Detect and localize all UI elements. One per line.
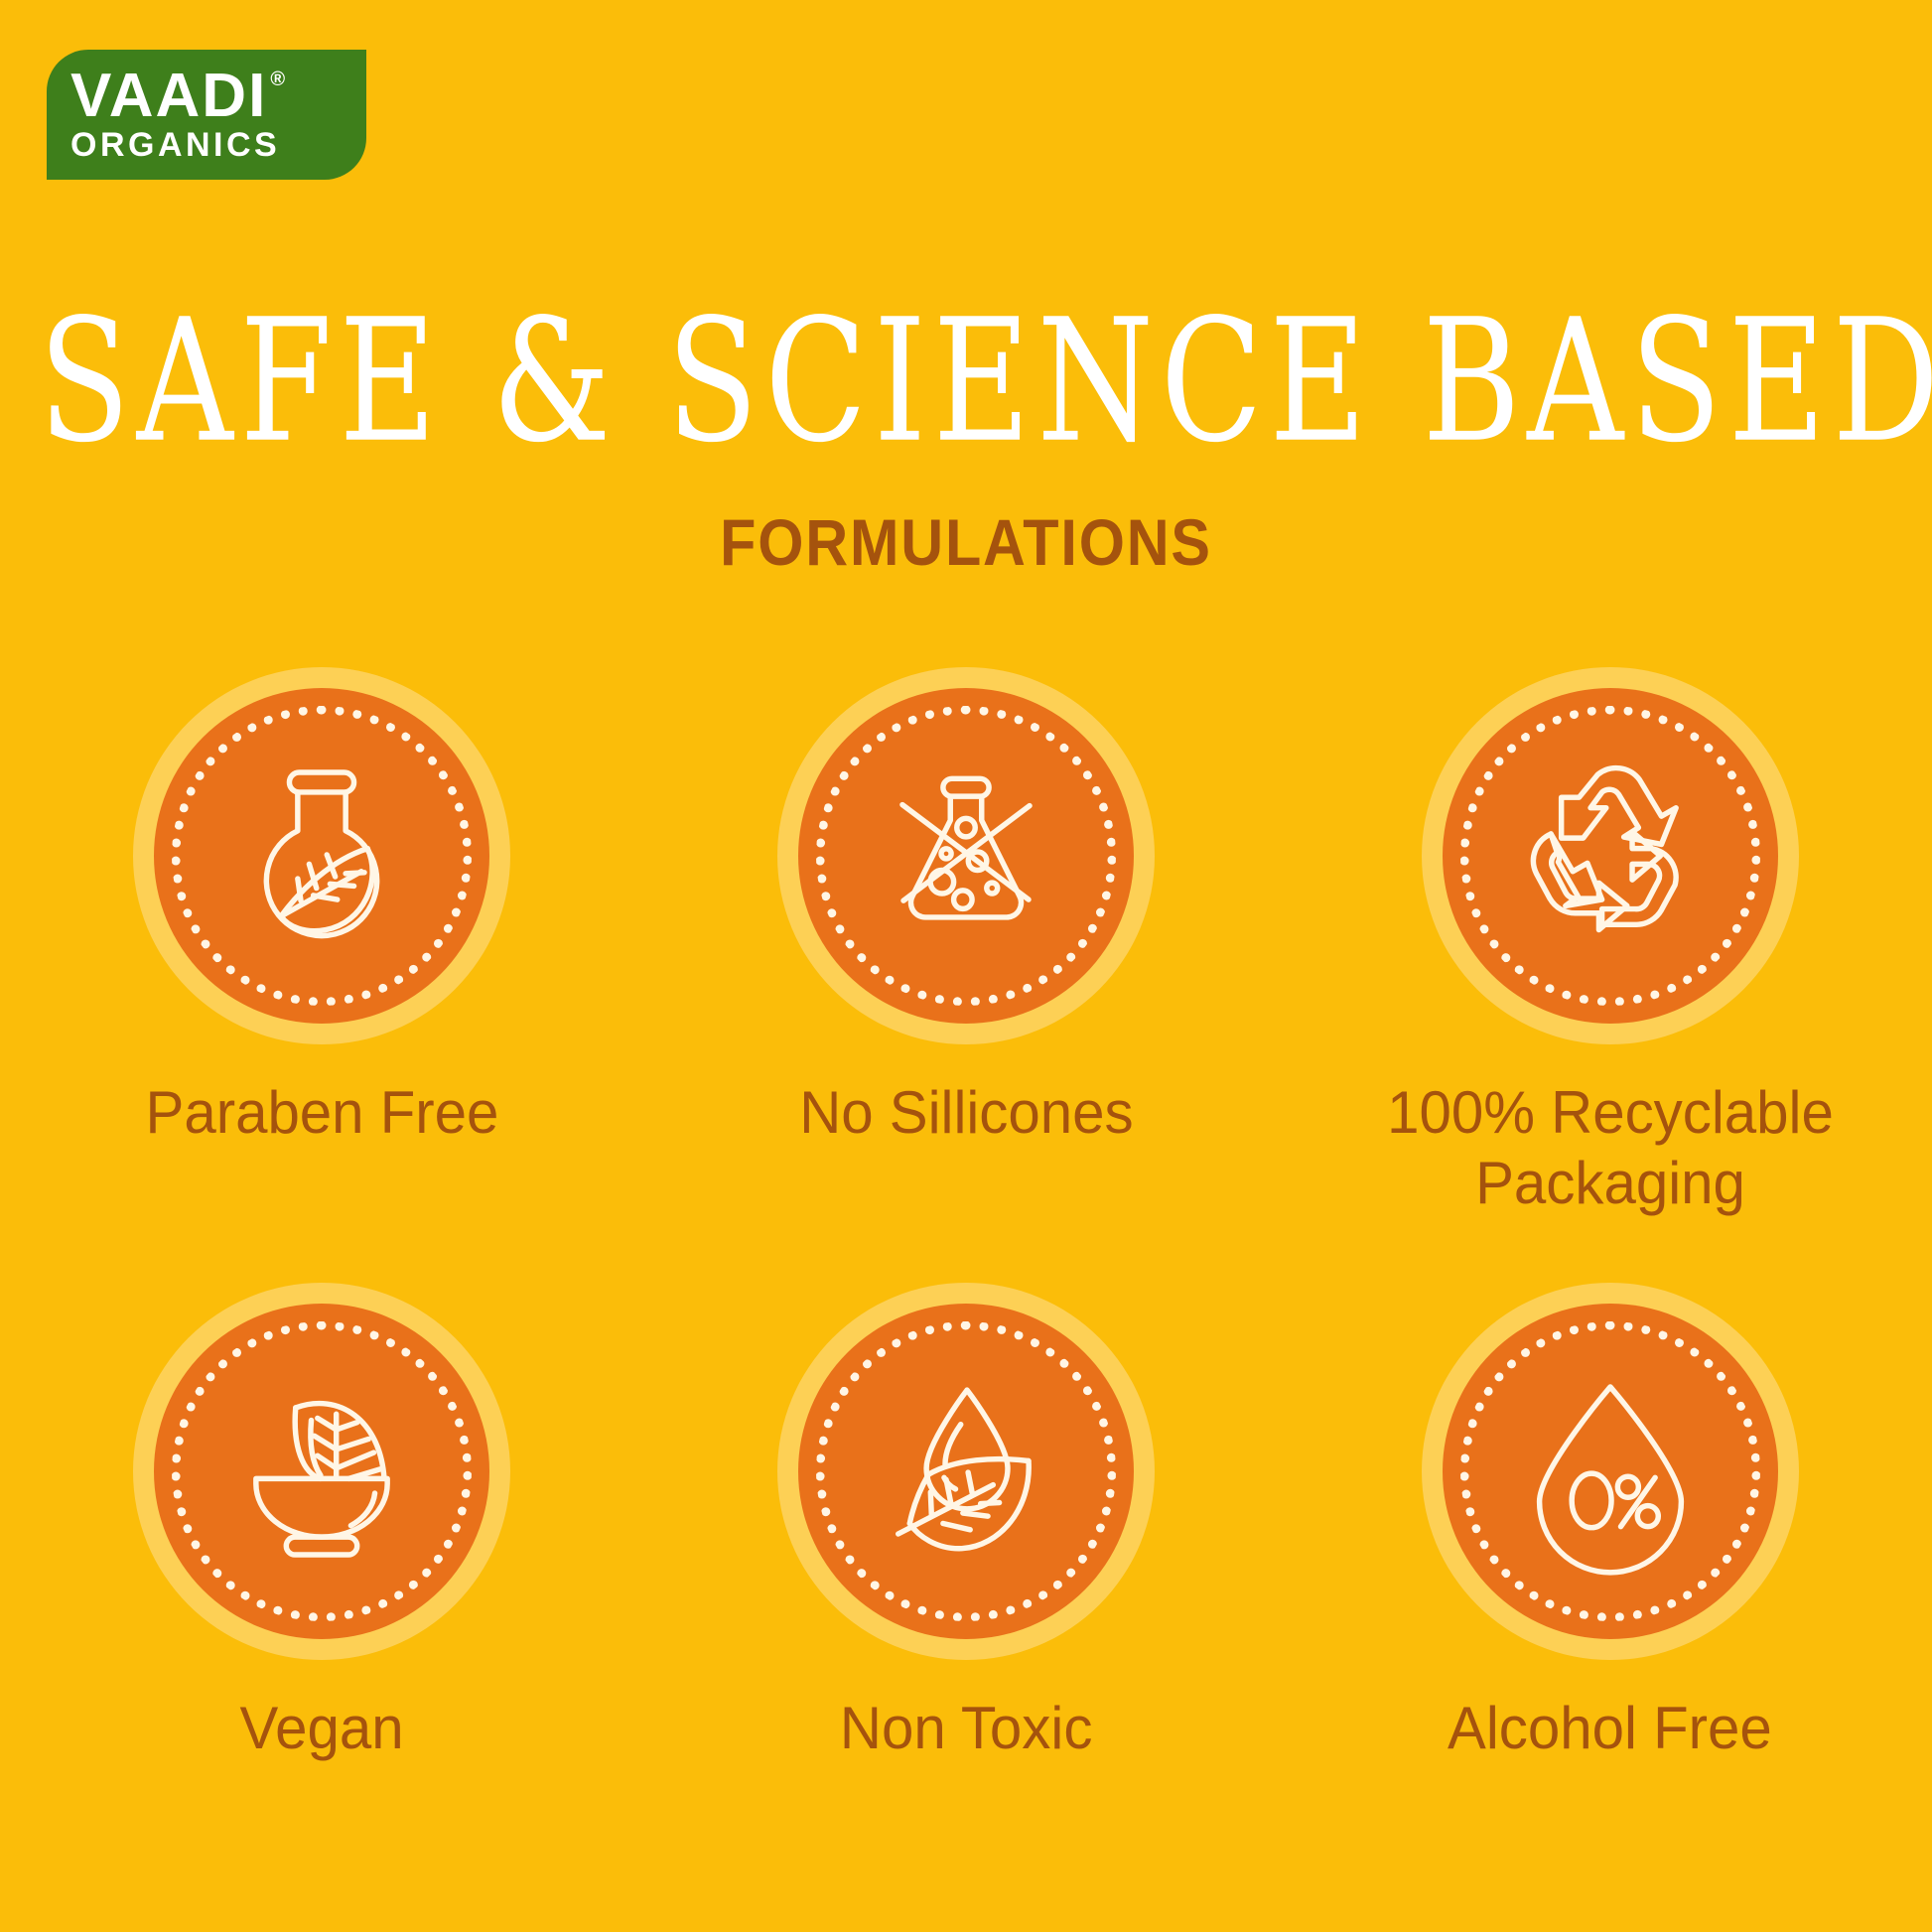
badge-circle — [133, 1283, 510, 1660]
brand-logo-wordmark-row: VAADI ® — [70, 68, 346, 126]
badge-circle — [133, 667, 510, 1044]
badge-inner-circle — [1443, 688, 1778, 1024]
brand-logo-subtitle: ORGANICS — [70, 128, 346, 164]
page-subtitle: FORMULATIONS — [96, 504, 1835, 580]
badge-circle — [1422, 1283, 1799, 1660]
badge-cell-alcohol-free: Alcohol Free — [1288, 1283, 1932, 1764]
droplet-on-leaf-icon — [862, 1367, 1070, 1576]
page-title: SAFE & SCIENCE BASED — [39, 298, 1893, 468]
bowl-with-leaf-icon — [217, 1367, 426, 1576]
badge-cell-recyclable-packaging: 100% Recyclable Packaging — [1288, 667, 1932, 1219]
recycling-arrows-icon — [1506, 752, 1715, 960]
registered-trademark-icon: ® — [270, 69, 285, 89]
badge-label: Non Toxic — [840, 1694, 1092, 1764]
badge-cell-no-sillicones: No Sillicones — [644, 667, 1289, 1219]
badge-inner-circle — [798, 1304, 1134, 1639]
badge-label: Alcohol Free — [1448, 1694, 1772, 1764]
badge-cell-non-toxic: Non Toxic — [644, 1283, 1289, 1764]
badge-circle — [1422, 667, 1799, 1044]
badge-label: No Sillicones — [799, 1078, 1133, 1149]
badge-circle — [777, 667, 1155, 1044]
badge-label: Vegan — [240, 1694, 404, 1764]
badge-cell-vegan: Vegan — [0, 1283, 644, 1764]
badge-inner-circle — [154, 1304, 489, 1639]
droplet-zero-percent-icon — [1506, 1367, 1715, 1576]
badge-circle — [777, 1283, 1155, 1660]
badge-inner-circle — [1443, 1304, 1778, 1639]
badge-inner-circle — [154, 688, 489, 1024]
header-block: SAFE & SCIENCE BASED FORMULATIONS — [0, 298, 1932, 580]
badge-label: Paraben Free — [145, 1078, 498, 1149]
badge-label: 100% Recyclable Packaging — [1359, 1078, 1860, 1219]
infographic-page: { "colors": { "background": "#FBBD09", "… — [0, 0, 1932, 1932]
feature-badge-grid: Paraben Free — [0, 667, 1932, 1763]
flask-with-leaf-icon — [217, 752, 426, 960]
badge-cell-paraben-free: Paraben Free — [0, 667, 644, 1219]
badge-inner-circle — [798, 688, 1134, 1024]
crossed-out-erlenmeyer-flask-icon — [862, 752, 1070, 960]
brand-logo-name: VAADI — [70, 68, 267, 126]
brand-logo: VAADI ® ORGANICS — [47, 50, 366, 180]
